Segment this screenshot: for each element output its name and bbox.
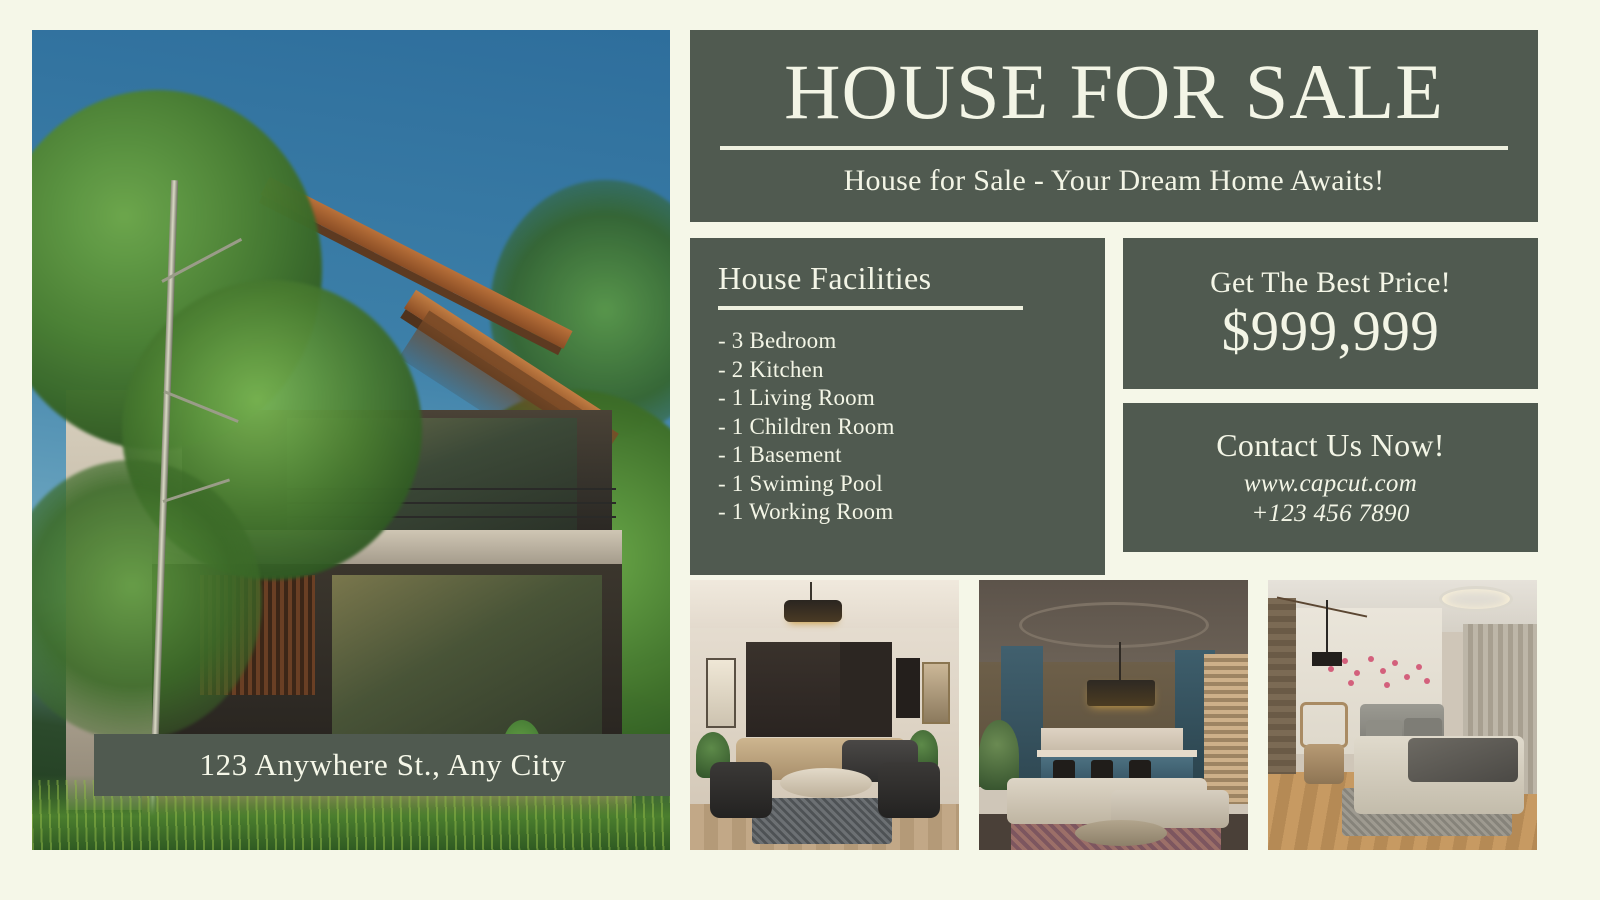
- contact-title: Contact Us Now!: [1216, 427, 1444, 464]
- living-room-artwork-1: [896, 658, 920, 718]
- contact-phone[interactable]: +123 456 7890: [1251, 499, 1409, 529]
- list-item: - 1 Basement: [718, 441, 1105, 470]
- living-room-armchair-2: [878, 762, 940, 818]
- living-room-coffee-table: [780, 768, 872, 798]
- list-item: - 1 Swiming Pool: [718, 470, 1105, 499]
- address-text: 123 Anywhere St., Any City: [200, 747, 567, 783]
- facilities-panel: House Facilities - 3 Bedroom - 2 Kitchen…: [690, 238, 1105, 575]
- facilities-list: - 3 Bedroom - 2 Kitchen - 1 Living Room …: [718, 327, 1105, 527]
- page-title: HOUSE FOR SALE: [784, 54, 1444, 130]
- header-subtitle: House for Sale - Your Dream Home Awaits!: [844, 164, 1385, 198]
- contact-panel: Contact Us Now! www.capcut.com +123 456 …: [1123, 403, 1538, 552]
- kitchen-countertop: [1037, 750, 1197, 757]
- list-item: - 3 Bedroom: [718, 327, 1105, 356]
- thumbnail-bedroom[interactable]: [1268, 580, 1537, 850]
- list-item: - 1 Working Room: [718, 498, 1105, 527]
- living-room-cabinetry-right: [840, 642, 892, 737]
- thumbnail-kitchen[interactable]: [979, 580, 1248, 850]
- kitchen-chandelier: [1087, 680, 1155, 706]
- living-room-armchair-1: [710, 762, 772, 818]
- bedroom-chandelier: [1439, 586, 1513, 612]
- kitchen-window-blinds: [1204, 654, 1248, 804]
- kitchen-ceiling-medallion: [1019, 602, 1209, 648]
- real-estate-flyer: 123 Anywhere St., Any City HOUSE FOR SAL…: [0, 0, 1600, 900]
- bedroom-nightstand: [1304, 744, 1344, 784]
- contact-website[interactable]: www.capcut.com: [1244, 469, 1417, 499]
- header-divider: [720, 146, 1508, 150]
- facilities-title: House Facilities: [718, 260, 1105, 297]
- thumbnail-living-room[interactable]: [690, 580, 959, 850]
- bedroom-blanket: [1408, 738, 1518, 782]
- living-room-artwork-2: [922, 662, 950, 724]
- living-room-chandelier: [784, 600, 842, 622]
- list-item: - 2 Kitchen: [718, 356, 1105, 385]
- bedroom-pendant-lamp: [1312, 652, 1342, 666]
- bedroom-mirror: [1300, 702, 1348, 748]
- list-item: - 1 Children Room: [718, 413, 1105, 442]
- price-value: $999,999: [1222, 302, 1440, 362]
- address-banner: 123 Anywhere St., Any City: [94, 734, 670, 796]
- bedroom-wood-panel: [1268, 598, 1296, 774]
- living-room-window: [706, 658, 736, 728]
- kitchen-coffee-table: [1075, 820, 1167, 846]
- list-item: - 1 Living Room: [718, 384, 1105, 413]
- hero-house-image: 123 Anywhere St., Any City: [32, 30, 670, 850]
- header-panel: HOUSE FOR SALE House for Sale - Your Dre…: [690, 30, 1538, 222]
- price-label: Get The Best Price!: [1210, 266, 1451, 300]
- living-room-rug: [752, 798, 892, 844]
- gallery-thumbnails: [690, 580, 1538, 850]
- facilities-divider: [718, 306, 1023, 310]
- price-panel: Get The Best Price! $999,999: [1123, 238, 1538, 389]
